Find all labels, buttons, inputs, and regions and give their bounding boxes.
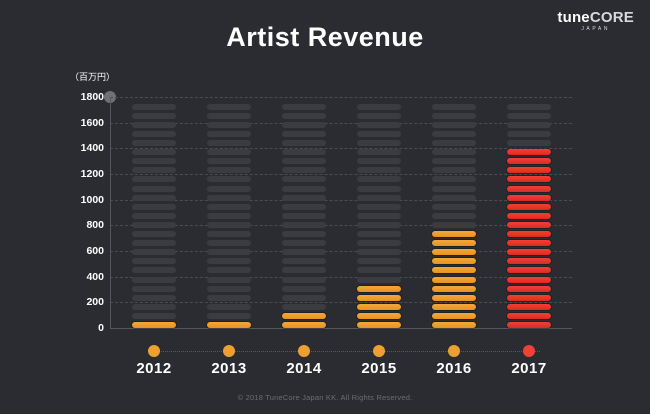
bar-segment-track — [357, 240, 401, 246]
bar-segment-track — [507, 113, 551, 119]
copyright-notice: © 2018 TuneCore Japan KK. All Rights Res… — [0, 393, 650, 402]
bar-segment-track — [282, 140, 326, 146]
bar-segment-track — [432, 104, 476, 110]
bar-segment-filled — [432, 322, 476, 328]
bar-segment-track — [507, 131, 551, 137]
bar-segment-track — [432, 213, 476, 219]
bar-segment-filled — [282, 313, 326, 319]
bar-segment-track — [207, 140, 251, 146]
bar-segment-track — [357, 131, 401, 137]
x-axis-label-2017: 2017 — [489, 360, 569, 377]
bar-segment-track — [282, 204, 326, 210]
bar-segment-track — [357, 213, 401, 219]
bar-segment-filled — [357, 295, 401, 301]
bar-segment-track — [432, 195, 476, 201]
bar-segment-filled — [507, 286, 551, 292]
bar-segment-track — [432, 222, 476, 228]
x-axis-dot-2015 — [373, 345, 385, 357]
bar-segment-track — [207, 313, 251, 319]
bar-segment-track — [282, 240, 326, 246]
bar-segment-track — [207, 186, 251, 192]
x-axis-label-2016: 2016 — [414, 360, 494, 377]
bar-segment-track — [432, 149, 476, 155]
bar-segment-track — [132, 104, 176, 110]
bar-segment-filled — [432, 304, 476, 310]
bar-segment-track — [207, 213, 251, 219]
x-axis-label-2015: 2015 — [339, 360, 419, 377]
bar-segment-track — [282, 213, 326, 219]
bar-segment-filled — [507, 213, 551, 219]
bar-segment-track — [357, 158, 401, 164]
bar-segment-filled — [432, 277, 476, 283]
bar-segment-track — [132, 222, 176, 228]
bar-segment-track — [132, 158, 176, 164]
bar-segment-track — [207, 149, 251, 155]
bar-segment-track — [207, 258, 251, 264]
bar-segment-track — [282, 231, 326, 237]
bar-segment-track — [357, 267, 401, 273]
bar-segment-filled — [357, 322, 401, 328]
bar-segment-filled — [432, 286, 476, 292]
x-axis-dotted-connector — [150, 351, 540, 352]
revenue-chart: （百万円） 180016001400120010008006004002000 … — [0, 0, 650, 414]
bar-segment-track — [357, 186, 401, 192]
bar-segment-track — [207, 222, 251, 228]
bar-segment-filled — [507, 186, 551, 192]
bar-segment-track — [282, 295, 326, 301]
bar-segment-track — [507, 140, 551, 146]
bar-segment-track — [132, 258, 176, 264]
bar-segment-track — [357, 277, 401, 283]
bar-segment-track — [282, 267, 326, 273]
bar-segment-track — [282, 286, 326, 292]
bar-segment-filled — [432, 267, 476, 273]
bar-segment-track — [357, 195, 401, 201]
bar-segment-track — [432, 204, 476, 210]
bar-segment-track — [432, 113, 476, 119]
bar-segment-filled — [507, 304, 551, 310]
bar-segment-filled — [432, 231, 476, 237]
x-axis-dot-2017 — [523, 345, 535, 357]
bar-segment-track — [132, 249, 176, 255]
bar-segment-track — [432, 176, 476, 182]
x-axis-dot-2016 — [448, 345, 460, 357]
bar-segment-track — [282, 277, 326, 283]
bar-segment-track — [282, 176, 326, 182]
bar-segment-track — [282, 195, 326, 201]
bar-segment-track — [132, 122, 176, 128]
bar-segment-track — [282, 222, 326, 228]
bar-segment-track — [432, 122, 476, 128]
bar-segment-track — [507, 122, 551, 128]
bar-segment-filled — [507, 277, 551, 283]
bar-segment-track — [132, 204, 176, 210]
bar-segment-track — [357, 122, 401, 128]
bar-segment-track — [357, 167, 401, 173]
bar-segment-track — [207, 286, 251, 292]
bar-segment-filled — [507, 240, 551, 246]
bar-segment-track — [207, 277, 251, 283]
bar-segment-track — [432, 167, 476, 173]
bar-segment-track — [207, 167, 251, 173]
bar-segment-filled — [507, 249, 551, 255]
bar-segment-track — [357, 258, 401, 264]
bar-segment-track — [357, 113, 401, 119]
bar-segment-track — [207, 267, 251, 273]
bar-segment-track — [432, 140, 476, 146]
bar-segment-track — [207, 158, 251, 164]
bar-segment-track — [357, 204, 401, 210]
bar-segment-track — [207, 249, 251, 255]
bar-segment-track — [282, 158, 326, 164]
bar-segment-filled — [432, 313, 476, 319]
x-axis-label-2012: 2012 — [114, 360, 194, 377]
bar-segment-track — [132, 167, 176, 173]
bar-segment-filled — [507, 295, 551, 301]
bar-segment-filled — [357, 313, 401, 319]
bar-segment-filled — [507, 231, 551, 237]
bar-segment-track — [357, 104, 401, 110]
bar-segment-filled — [507, 195, 551, 201]
bar-segment-track — [282, 122, 326, 128]
bar-segment-filled — [507, 149, 551, 155]
bar-segment-track — [132, 140, 176, 146]
bar-segment-track — [207, 131, 251, 137]
x-axis-label-2013: 2013 — [189, 360, 269, 377]
bar-segment-track — [282, 304, 326, 310]
bar-segment-track — [132, 240, 176, 246]
bar-segment-track — [207, 304, 251, 310]
bar-segment-filled — [507, 176, 551, 182]
bar-segment-track — [132, 304, 176, 310]
bar-segment-track — [282, 167, 326, 173]
bar-segment-filled — [507, 204, 551, 210]
bar-segment-track — [132, 267, 176, 273]
bar-segment-track — [207, 240, 251, 246]
bar-segment-track — [282, 131, 326, 137]
bar-segment-track — [132, 131, 176, 137]
bar-segment-track — [207, 113, 251, 119]
bar-segment-track — [432, 158, 476, 164]
bar-segment-filled — [507, 167, 551, 173]
bar-segment-track — [207, 122, 251, 128]
bar-segment-filled — [432, 240, 476, 246]
bar-segment-track — [132, 295, 176, 301]
bar-segment-track — [282, 149, 326, 155]
bar-segment-filled — [132, 322, 176, 328]
bar-segment-track — [132, 277, 176, 283]
bar-segment-track — [282, 258, 326, 264]
bar-segment-track — [357, 249, 401, 255]
bar-segment-track — [132, 113, 176, 119]
bar-segment-track — [132, 313, 176, 319]
bar-segment-track — [207, 295, 251, 301]
bar-segment-track — [132, 176, 176, 182]
bar-segment-filled — [432, 295, 476, 301]
bar-segment-track — [357, 149, 401, 155]
bar-segment-track — [432, 186, 476, 192]
bar-segment-track — [132, 213, 176, 219]
bar-segment-track — [282, 104, 326, 110]
bar-segment-filled — [432, 249, 476, 255]
bar-segment-filled — [282, 322, 326, 328]
bar-segment-filled — [507, 267, 551, 273]
bar-segment-track — [207, 195, 251, 201]
bar-segment-track — [282, 113, 326, 119]
x-axis-dot-2014 — [298, 345, 310, 357]
bar-segment-filled — [507, 158, 551, 164]
bar-segment-track — [207, 176, 251, 182]
bar-segment-track — [357, 176, 401, 182]
bar-segment-track — [507, 104, 551, 110]
bar-segment-track — [282, 249, 326, 255]
bar-segment-filled — [357, 304, 401, 310]
x-axis-dot-2012 — [148, 345, 160, 357]
bar-segment-track — [432, 131, 476, 137]
bar-segment-filled — [207, 322, 251, 328]
bar-segment-filled — [432, 258, 476, 264]
bar-segment-track — [282, 186, 326, 192]
bar-segment-track — [132, 286, 176, 292]
bar-segment-filled — [507, 258, 551, 264]
bar-segment-track — [357, 231, 401, 237]
bar-segment-track — [132, 149, 176, 155]
bar-segment-track — [207, 231, 251, 237]
bar-segment-filled — [507, 322, 551, 328]
bar-segment-filled — [507, 313, 551, 319]
bar-segment-track — [132, 231, 176, 237]
bar-segment-track — [132, 195, 176, 201]
x-axis-label-2014: 2014 — [264, 360, 344, 377]
bar-segment-track — [357, 222, 401, 228]
bar-segment-track — [207, 204, 251, 210]
bar-segment-track — [132, 186, 176, 192]
x-axis-dot-2013 — [223, 345, 235, 357]
bar-segment-track — [357, 140, 401, 146]
bar-segment-filled — [357, 286, 401, 292]
bar-segment-filled — [507, 222, 551, 228]
bar-segment-track — [207, 104, 251, 110]
